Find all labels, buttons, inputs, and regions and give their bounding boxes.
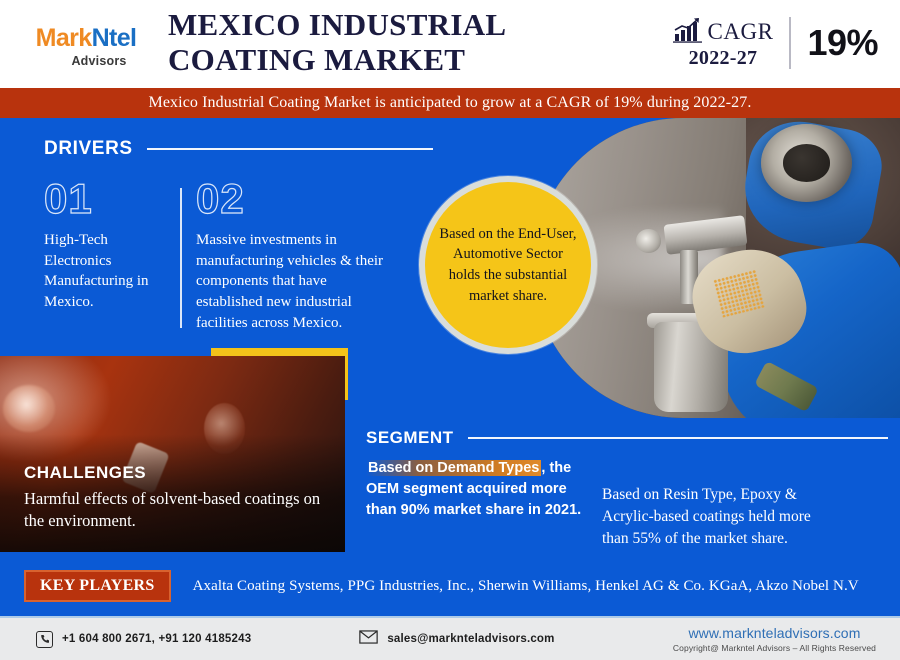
segment-column-resin-type: Based on Resin Type, Epoxy & Acrylic-bas… xyxy=(602,484,834,550)
segment-column-demand-types: Based on Demand Types, the OEM segment a… xyxy=(366,458,598,521)
segment-demand-types-text: Based on Demand Types, the OEM segment a… xyxy=(366,458,598,521)
headline-banner-text: Mexico Industrial Coating Market is anti… xyxy=(149,94,752,112)
logo-ntel-text: Ntel xyxy=(92,24,137,52)
key-players-row: KEY PLAYERS Axalta Coating Systems, PPG … xyxy=(0,568,900,604)
end-user-callout-text: Based on the End-User, Automotive Sector… xyxy=(425,224,591,306)
footer-phone[interactable]: +1 604 800 2671, +91 120 4185243 xyxy=(36,631,251,648)
driver-item-01: 01 High-Tech Electronics Manufacturing i… xyxy=(44,178,176,313)
key-players-list: Axalta Coating Systems, PPG Industries, … xyxy=(193,578,859,595)
segment-demand-types-highlight: Based on Demand Types xyxy=(366,460,541,476)
phone-icon xyxy=(36,631,53,648)
logo-subtitle: Advisors xyxy=(20,54,152,68)
headline-banner: Mexico Industrial Coating Market is anti… xyxy=(0,88,900,118)
footer-website-url[interactable]: www.marknteladvisors.com xyxy=(673,625,876,641)
page-title-line-1: MEXICO INDUSTRIAL xyxy=(168,8,658,43)
challenges-title: CHALLENGES xyxy=(24,463,327,483)
driver-text-02: Massive investments in manufacturing veh… xyxy=(196,230,396,333)
logo-mark-text: Mark xyxy=(36,24,92,52)
footer: +1 604 800 2671, +91 120 4185243 sales@m… xyxy=(0,616,900,660)
driver-number-02: 02 xyxy=(196,178,396,220)
bar-chart-growth-icon xyxy=(673,17,703,43)
drivers-title: DRIVERS xyxy=(44,138,133,160)
drivers-heading-rule xyxy=(147,148,433,150)
drivers-heading: DRIVERS xyxy=(44,138,433,160)
page-title-line-2: COATING MARKET xyxy=(168,43,658,78)
end-user-callout-circle: Based on the End-User, Automotive Sector… xyxy=(419,176,597,354)
envelope-icon xyxy=(359,630,378,649)
driver-text-01: High-Tech Electronics Manufacturing in M… xyxy=(44,230,176,313)
cagr-years: 2022-27 xyxy=(673,47,774,70)
footer-email-text: sales@marknteladvisors.com xyxy=(387,633,554,645)
segment-resin-type-text: Based on Resin Type, Epoxy & Acrylic-bas… xyxy=(602,484,834,550)
segment-heading-rule xyxy=(468,437,888,439)
logo-wordmark: MarkNtel xyxy=(20,26,152,51)
driver-item-02: 02 Massive investments in manufacturing … xyxy=(196,178,396,333)
key-players-badge: KEY PLAYERS xyxy=(24,570,171,602)
challenges-text: Harmful effects of solvent-based coating… xyxy=(24,488,327,532)
challenges-card: CHALLENGES Harmful effects of solvent-ba… xyxy=(0,356,345,552)
brand-logo[interactable]: MarkNtel Advisors xyxy=(20,26,152,68)
cagr-label: CAGR xyxy=(708,20,774,43)
cagr-label-group: CAGR 2022-27 xyxy=(673,17,790,70)
driver-number-01: 01 xyxy=(44,178,176,220)
drivers-vertical-divider xyxy=(180,188,182,328)
footer-phone-text: +1 604 800 2671, +91 120 4185243 xyxy=(62,633,251,645)
cagr-value: 19% xyxy=(791,22,878,64)
footer-copyright: Copyright@ Markntel Advisors – All Right… xyxy=(673,643,876,653)
segment-heading: SEGMENT xyxy=(366,428,888,448)
photo-respirator-mask xyxy=(761,124,853,202)
footer-brand[interactable]: www.marknteladvisors.com Copyright@ Mark… xyxy=(673,625,876,653)
infographic-page: MarkNtel Advisors MEXICO INDUSTRIAL COAT… xyxy=(0,0,900,660)
footer-email[interactable]: sales@marknteladvisors.com xyxy=(359,630,554,649)
cagr-label-row: CAGR xyxy=(673,17,774,43)
segment-title: SEGMENT xyxy=(366,428,454,448)
cagr-block: CAGR 2022-27 19% xyxy=(673,12,878,74)
page-title: MEXICO INDUSTRIAL COATING MARKET xyxy=(168,8,658,77)
challenges-content: CHALLENGES Harmful effects of solvent-ba… xyxy=(24,463,327,532)
header: MarkNtel Advisors MEXICO INDUSTRIAL COAT… xyxy=(0,0,900,88)
